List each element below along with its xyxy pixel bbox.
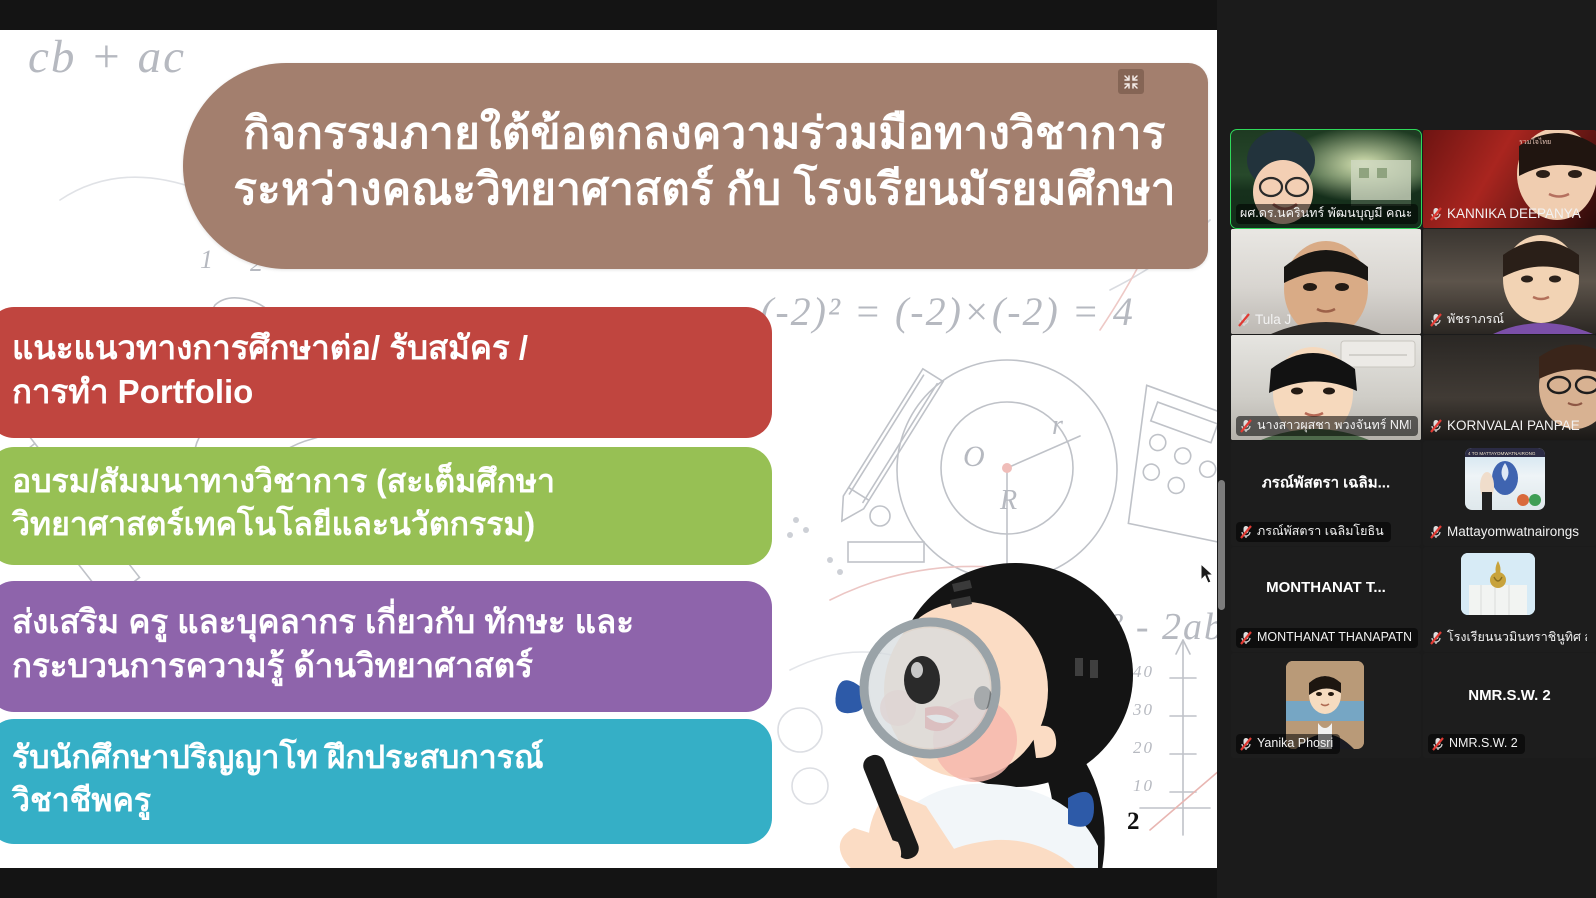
participant-tile[interactable]: Tula J bbox=[1231, 229, 1421, 334]
slide-title-banner: กิจกรรมภายใต้ข้อตกลงความร่วมมือทางวิชากา… bbox=[183, 63, 1208, 269]
participant-tile-no-video[interactable]: NMR.S.W. 2 NMR.S.W. 2 bbox=[1423, 653, 1596, 758]
participant-namebar: นางสาวผุสชา พวงจันทร์ NMR.... bbox=[1236, 416, 1418, 436]
doodle-label-r: r bbox=[1052, 410, 1065, 442]
shared-screen-stage[interactable]: cb + ac (-2)² = (-2)×(-2) = 4 a² - 2ab r… bbox=[0, 0, 1217, 898]
participant-name: พัชราภรณ์ bbox=[1447, 311, 1504, 328]
participant-namebar: Tula J bbox=[1236, 310, 1298, 330]
participant-name: NMR.S.W. 2 bbox=[1449, 735, 1518, 752]
doodle-label-R: R bbox=[1000, 485, 1019, 517]
participant-namebar: MONTHANAT THANAPATN... bbox=[1236, 628, 1418, 648]
participant-namebar: พัชราภรณ์ bbox=[1428, 310, 1511, 330]
doodle-formula-2: (-2)² = (-2)×(-2) = 4 bbox=[760, 288, 1135, 335]
participant-video bbox=[1461, 553, 1535, 615]
participant-namebar: ภรณ์พัสตรา เฉลิมโยธิน bbox=[1236, 522, 1391, 542]
svg-text:รวมใจไทย: รวมใจไทย bbox=[1519, 137, 1551, 146]
participant-display-name: MONTHANAT T... bbox=[1231, 579, 1421, 596]
mic-muted-icon bbox=[1430, 313, 1442, 327]
participant-tile-no-video[interactable]: ภรณ์พัสตรา เฉลิม... ภรณ์พัสตรา เฉลิมโยธิ… bbox=[1231, 441, 1421, 546]
collapse-arrows-icon[interactable] bbox=[1118, 69, 1144, 94]
mic-muted-icon bbox=[1430, 419, 1442, 433]
participant-name: MONTHANAT THANAPATN... bbox=[1257, 629, 1411, 646]
participant-tile-self[interactable]: ผศ.ดร.นครินทร์ พัฒนบุญมี คณะวิทย์ bbox=[1231, 130, 1421, 228]
participant-namebar: ผศ.ดร.นครินทร์ พัฒนบุญมี คณะวิทย์ bbox=[1236, 204, 1418, 224]
participant-tile[interactable]: Yanika Phosri bbox=[1231, 653, 1421, 758]
participant-name: โรงเรียนนวมินทราชินูทิศ ส bbox=[1447, 629, 1587, 646]
mic-muted-icon bbox=[1238, 313, 1250, 327]
bullet-bar-red: แนะแนวทางการศึกษาต่อ/ รับสมัคร / การทำ P… bbox=[0, 307, 772, 438]
participant-name: Yanika Phosri bbox=[1257, 735, 1333, 752]
participant-tile[interactable]: พัชราภรณ์ bbox=[1423, 229, 1596, 334]
participant-namebar: Yanika Phosri bbox=[1236, 734, 1340, 754]
bullet-text-2: อบรม/สัมมนาทางวิชาการ (สะเต็มศึกษา วิทยา… bbox=[12, 460, 555, 545]
participant-video: 4 TO MATTAYOMWATNAIRONG bbox=[1465, 448, 1545, 510]
doodle-formula-1: cb + ac bbox=[28, 30, 186, 84]
bullet-text-4: รับนักศึกษาปริญญาโท ฝึกประสบการณ์ วิชาชี… bbox=[12, 736, 544, 821]
slide-title-line-1: กิจกรรมภายใต้ข้อตกลงความร่วมมือทางวิชากา… bbox=[243, 106, 1165, 162]
participant-tile[interactable]: 4 TO MATTAYOMWATNAIRONG bbox=[1423, 441, 1596, 546]
participant-name: Mattayomwatnairongs bbox=[1447, 523, 1579, 540]
bullet-text-1: แนะแนวทางการศึกษาต่อ/ รับสมัคร / การทำ P… bbox=[12, 326, 528, 414]
participant-namebar: NMR.S.W. 2 bbox=[1428, 734, 1525, 754]
collapse-arrows-glyph bbox=[1123, 74, 1139, 90]
participant-tile-no-video[interactable]: MONTHANAT T... MONTHANAT THANAPATN... bbox=[1231, 547, 1421, 652]
participant-name: นางสาวผุสชา พวงจันทร์ NMR.... bbox=[1257, 417, 1411, 434]
mic-muted-icon bbox=[1430, 525, 1442, 539]
participant-name: ผศ.ดร.นครินทร์ พัฒนบุญมี คณะวิทย์ bbox=[1240, 205, 1411, 222]
participants-scrollbar[interactable] bbox=[1218, 480, 1225, 610]
participant-name: KORNVALAI PANPAE bbox=[1447, 417, 1580, 434]
participant-display-name: NMR.S.W. 2 bbox=[1423, 687, 1596, 704]
zoom-meeting-window: cb + ac (-2)² = (-2)×(-2) = 4 a² - 2ab r… bbox=[0, 0, 1596, 898]
participant-grid: ผศ.ดร.นครินทร์ พัฒนบุญมี คณะวิทย์ รวมใจไ… bbox=[1231, 0, 1596, 898]
mic-muted-icon bbox=[1240, 419, 1252, 433]
participant-name: KANNIKA DEEPANYA bbox=[1447, 205, 1581, 222]
slide-title-line-2: ระหว่างคณะวิทยาศาสตร์ กับ โรงเรียนมัรยมศ… bbox=[233, 162, 1175, 218]
participant-tile[interactable]: นางสาวผุสชา พวงจันทร์ NMR.... bbox=[1231, 335, 1421, 440]
doodle-number-1: 1 bbox=[200, 245, 215, 275]
svg-text:4 TO MATTAYOMWATNAIRONG: 4 TO MATTAYOMWATNAIRONG bbox=[1468, 451, 1536, 456]
mic-muted-icon bbox=[1432, 737, 1444, 751]
bullet-bar-green: อบรม/สัมมนาทางวิชาการ (สะเต็มศึกษา วิทยา… bbox=[0, 447, 772, 565]
bullet-text-3: ส่งเสริม ครู และบุคลากร เกี่ยวกับ ทักษะ … bbox=[12, 600, 634, 688]
participant-tile[interactable]: รวมใจไทย KANNIKA DEEPANYA bbox=[1423, 130, 1596, 228]
participant-namebar: KORNVALAI PANPAE bbox=[1428, 416, 1587, 436]
mouse-cursor-icon bbox=[1200, 563, 1216, 585]
participant-name: Tula J bbox=[1255, 311, 1291, 328]
slide-page-number: 2 bbox=[1127, 808, 1140, 836]
doodle-label-O: O bbox=[963, 440, 987, 474]
participant-namebar: โรงเรียนนวมินทราชินูทิศ ส bbox=[1428, 628, 1594, 648]
participant-namebar: Mattayomwatnairongs bbox=[1428, 522, 1586, 542]
mic-muted-icon bbox=[1240, 737, 1252, 751]
bullet-bar-purple: ส่งเสริม ครู และบุคลากร เกี่ยวกับ ทักษะ … bbox=[0, 581, 772, 712]
mic-muted-icon bbox=[1430, 207, 1442, 221]
participant-tile[interactable]: โรงเรียนนวมินทราชินูทิศ ส bbox=[1423, 547, 1596, 652]
participant-namebar: KANNIKA DEEPANYA bbox=[1428, 204, 1588, 224]
participant-tile[interactable]: KORNVALAI PANPAE bbox=[1423, 335, 1596, 440]
participant-display-name: ภรณ์พัสตรา เฉลิม... bbox=[1231, 471, 1421, 495]
participants-sidebar: ผศ.ดร.นครินทร์ พัฒนบุญมี คณะวิทย์ รวมใจไ… bbox=[1217, 0, 1596, 898]
mic-muted-icon bbox=[1240, 525, 1252, 539]
presentation-slide[interactable]: cb + ac (-2)² = (-2)×(-2) = 4 a² - 2ab r… bbox=[0, 30, 1217, 868]
participant-name: ภรณ์พัสตรา เฉลิมโยธิน bbox=[1257, 523, 1384, 540]
mic-muted-icon bbox=[1430, 631, 1442, 645]
mic-muted-icon bbox=[1240, 631, 1252, 645]
bullet-bar-teal: รับนักศึกษาปริญญาโท ฝึกประสบการณ์ วิชาชี… bbox=[0, 719, 772, 844]
